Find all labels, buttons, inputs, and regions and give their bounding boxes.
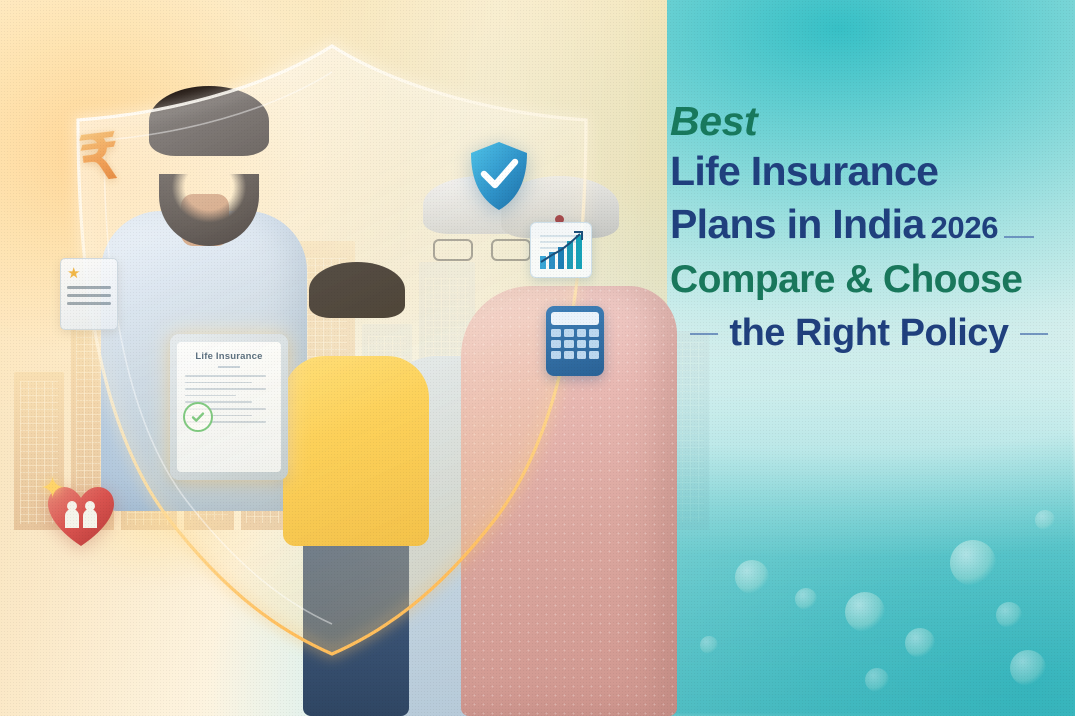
headline-line-best: Best xyxy=(670,100,1068,143)
bokeh-circle xyxy=(735,560,769,594)
calculator-icon[interactable] xyxy=(546,306,604,376)
bokeh-circle xyxy=(795,588,817,610)
headline-plans-text: Plans in India xyxy=(670,199,924,249)
headline-year: 2026 xyxy=(930,209,998,247)
rupee-icon: ₹ xyxy=(76,126,123,192)
headline-dash-left xyxy=(690,333,718,335)
growth-chart-icon[interactable] xyxy=(530,222,592,278)
bokeh-circle xyxy=(1035,510,1055,530)
calculator-display xyxy=(551,312,599,325)
calculator-keypad xyxy=(551,329,599,359)
bokeh-circle xyxy=(845,592,885,632)
shield-check-icon[interactable] xyxy=(468,140,530,212)
doc-line xyxy=(67,286,111,289)
shield-outline-icon xyxy=(42,28,622,668)
headline-line-plans-india: Plans in India 2026 xyxy=(670,199,1068,249)
doc-line xyxy=(67,294,111,297)
headline-line-right-policy: the Right Policy xyxy=(670,309,1068,358)
star-glyph: ★ xyxy=(67,266,111,281)
bokeh-circle xyxy=(865,668,889,692)
policy-document-icon[interactable]: ★ xyxy=(60,258,118,330)
doc-line xyxy=(67,302,111,305)
headline-dash-end xyxy=(1020,333,1048,335)
bokeh-circle xyxy=(950,540,996,586)
protective-shield-overlay xyxy=(42,28,622,668)
headline-policy-text: the Right Policy xyxy=(729,309,1008,358)
sparkle-icon: ✦ xyxy=(40,474,82,516)
bokeh-circle xyxy=(700,636,718,654)
bokeh-circle xyxy=(1010,650,1046,686)
headline-dash-right xyxy=(1004,236,1034,238)
headline-line-life-insurance: Life Insurance xyxy=(670,145,1068,198)
headline-block: Best Life Insurance Plans in India 2026 … xyxy=(670,100,1068,359)
insurance-hero-banner: Life Insurance xyxy=(0,0,1075,716)
bokeh-circle xyxy=(905,628,935,658)
bokeh-circle xyxy=(996,602,1022,628)
headline-line-compare-choose: Compare & Choose xyxy=(670,255,1068,306)
